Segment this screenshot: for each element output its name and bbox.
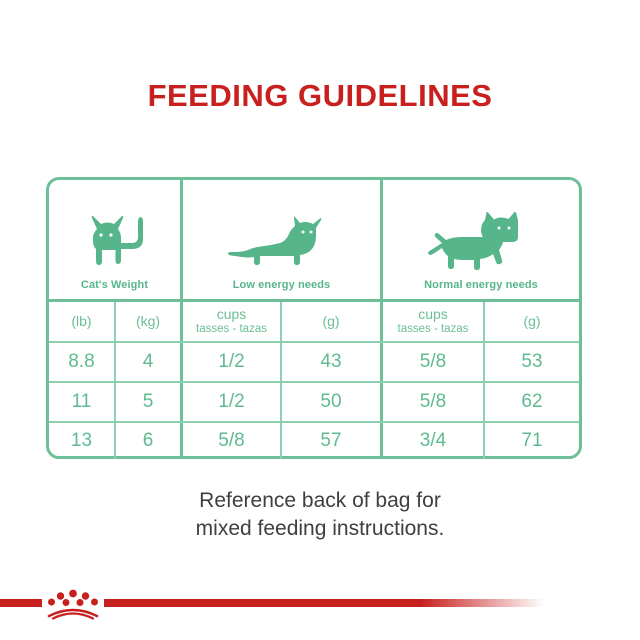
cell-low-cups: 5/8 bbox=[180, 423, 280, 459]
cell-weight-lb: 11 bbox=[49, 383, 114, 421]
subheader-kg: (kg) bbox=[114, 302, 180, 341]
cell-weight-kg: 4 bbox=[114, 343, 180, 381]
cat-walking-icon bbox=[426, 212, 536, 274]
header-cell-low-energy: Low energy needs bbox=[180, 180, 380, 299]
header-cell-normal-energy: Normal energy needs bbox=[380, 180, 579, 299]
cell-weight-lb: 8.8 bbox=[49, 343, 114, 381]
feeding-guidelines-table: Cat's Weight Low energy needs Normal bbox=[46, 177, 582, 459]
subheader-normal-cups-sub: tasses - tazas bbox=[398, 323, 469, 336]
brand-bar-left-segment bbox=[0, 599, 42, 607]
table-row: 13 6 5/8 57 3/4 71 bbox=[49, 421, 579, 459]
cell-normal-grams: 62 bbox=[483, 383, 579, 421]
subheader-lb: (lb) bbox=[49, 302, 114, 341]
subheader-low-cups: cups tasses - tazas bbox=[180, 302, 280, 341]
royal-canin-crown-logo bbox=[42, 586, 104, 620]
brand-bar-right-segment bbox=[104, 599, 544, 607]
subheader-kg-text: (kg) bbox=[136, 314, 160, 330]
cell-low-grams: 57 bbox=[280, 423, 380, 459]
subheader-low-cups-main: cups bbox=[217, 307, 247, 323]
table-icon-header-row: Cat's Weight Low energy needs Normal bbox=[49, 180, 579, 299]
header-label-normal-energy: Normal energy needs bbox=[424, 279, 538, 291]
cell-normal-grams: 71 bbox=[483, 423, 579, 459]
table-row: 11 5 1/2 50 5/8 62 bbox=[49, 381, 579, 421]
cell-normal-cups: 5/8 bbox=[380, 343, 483, 381]
cell-weight-kg: 6 bbox=[114, 423, 180, 459]
cell-weight-lb: 13 bbox=[49, 423, 114, 459]
header-label-low-energy: Low energy needs bbox=[233, 279, 331, 291]
cell-normal-cups: 3/4 bbox=[380, 423, 483, 459]
table-subheader-row: (lb) (kg) cups tasses - tazas (g) cups t… bbox=[49, 299, 579, 341]
cell-normal-grams: 53 bbox=[483, 343, 579, 381]
cell-normal-cups: 5/8 bbox=[380, 383, 483, 421]
subheader-low-grams-text: (g) bbox=[322, 314, 339, 330]
cat-lying-icon bbox=[228, 216, 336, 274]
footer-note-line-2: mixed feeding instructions. bbox=[0, 515, 640, 543]
cell-low-cups: 1/2 bbox=[180, 343, 280, 381]
page-title: FEEDING GUIDELINES bbox=[0, 78, 640, 114]
cat-standing-icon bbox=[80, 212, 150, 274]
subheader-lb-text: (lb) bbox=[71, 314, 91, 330]
subheader-low-cups-sub: tasses - tazas bbox=[196, 323, 267, 336]
header-label-cats-weight: Cat's Weight bbox=[81, 279, 148, 291]
subheader-normal-cups-main: cups bbox=[418, 307, 448, 323]
cell-weight-kg: 5 bbox=[114, 383, 180, 421]
header-cell-cats-weight: Cat's Weight bbox=[49, 180, 180, 299]
footer-note: Reference back of bag for mixed feeding … bbox=[0, 487, 640, 542]
subheader-normal-grams: (g) bbox=[483, 302, 579, 341]
footer-note-line-1: Reference back of bag for bbox=[0, 487, 640, 515]
cell-low-cups: 1/2 bbox=[180, 383, 280, 421]
subheader-normal-grams-text: (g) bbox=[523, 314, 540, 330]
brand-bar bbox=[0, 586, 640, 620]
table-row: 8.8 4 1/2 43 5/8 53 bbox=[49, 341, 579, 381]
cell-low-grams: 50 bbox=[280, 383, 380, 421]
cell-low-grams: 43 bbox=[280, 343, 380, 381]
subheader-normal-cups: cups tasses - tazas bbox=[380, 302, 483, 341]
subheader-low-grams: (g) bbox=[280, 302, 380, 341]
